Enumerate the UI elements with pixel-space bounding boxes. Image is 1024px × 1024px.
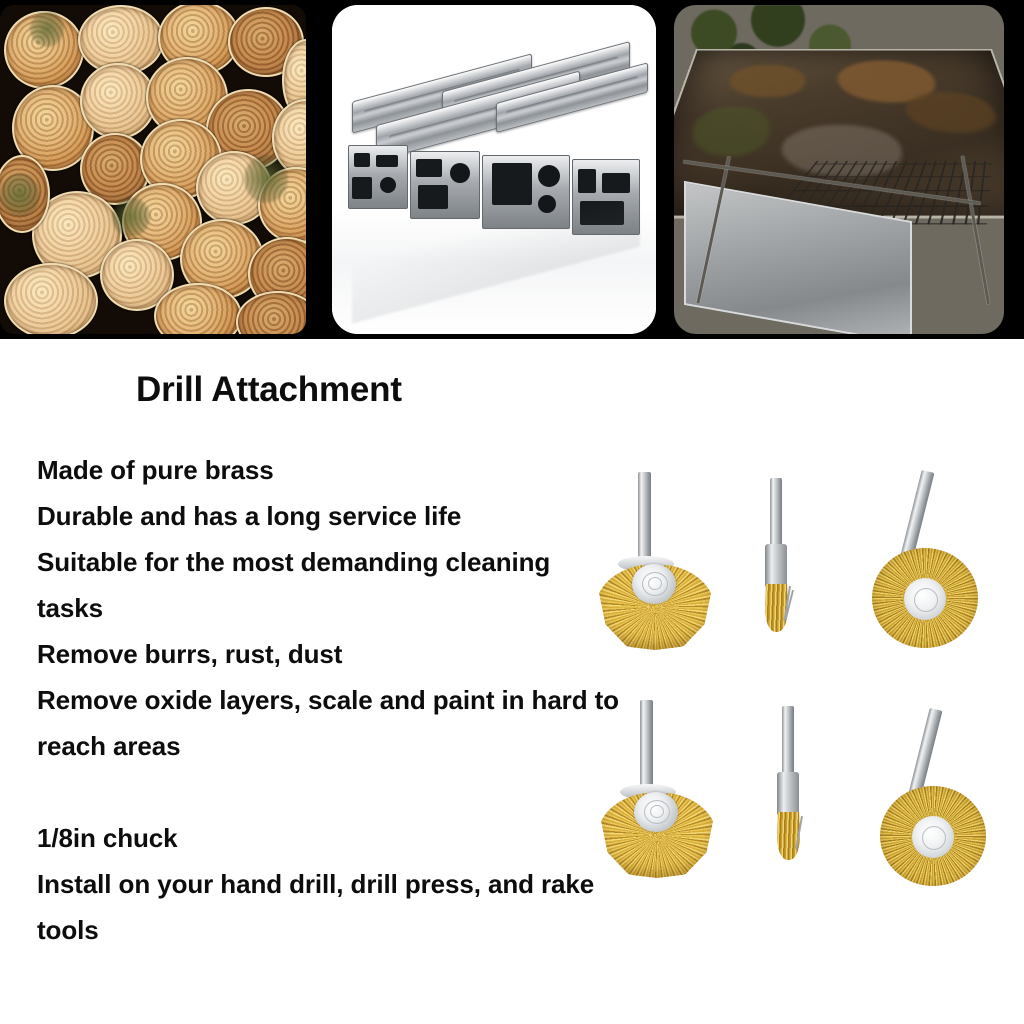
brush-hub-ring bbox=[922, 826, 946, 850]
wheel-brush-top-right bbox=[866, 470, 990, 648]
feature-line: tasks bbox=[37, 585, 637, 631]
photo-gap-right bbox=[656, 0, 674, 339]
feature-list: Made of pure brass Durable and has a lon… bbox=[37, 447, 637, 953]
brush-shank bbox=[770, 478, 782, 550]
photo-gap-left bbox=[306, 0, 332, 339]
feature-line: Made of pure brass bbox=[37, 447, 637, 493]
feature-line: Durable and has a long service life bbox=[37, 493, 637, 539]
spec-line: 1/8in chuck bbox=[37, 815, 637, 861]
feature-line: Remove burrs, rust, dust bbox=[37, 631, 637, 677]
brush-ferrule bbox=[777, 772, 799, 816]
feature-line: Suitable for the most demanding cleaning bbox=[37, 539, 637, 585]
brush-hub-ring bbox=[648, 577, 662, 590]
brush-hub-ring bbox=[650, 805, 664, 818]
end-brush-top-middle bbox=[752, 478, 812, 650]
wheel-brush-bottom-right bbox=[874, 708, 998, 886]
page-title: Drill Attachment bbox=[136, 370, 402, 410]
feature-line: reach areas bbox=[37, 723, 637, 769]
photo-bbq-grill bbox=[674, 5, 1004, 334]
spec-line: Install on your hand drill, drill press,… bbox=[37, 861, 637, 907]
paragraph-spacer bbox=[37, 769, 637, 815]
photo-aluminium-extrusion bbox=[332, 5, 656, 334]
brush-ferrule bbox=[765, 544, 787, 588]
brush-shank bbox=[640, 700, 653, 792]
feature-line: Remove oxide layers, scale and paint in … bbox=[37, 677, 637, 723]
photo-logs bbox=[0, 5, 306, 334]
photo-band bbox=[0, 0, 1024, 339]
spec-line: tools bbox=[37, 907, 637, 953]
cup-brush-top-left bbox=[596, 472, 726, 652]
brush-shank bbox=[782, 706, 794, 778]
brush-hub-ring bbox=[914, 588, 938, 612]
brush-shank bbox=[638, 472, 651, 564]
cup-brush-bottom-left bbox=[598, 700, 728, 880]
end-brush-bottom-middle bbox=[764, 706, 824, 878]
